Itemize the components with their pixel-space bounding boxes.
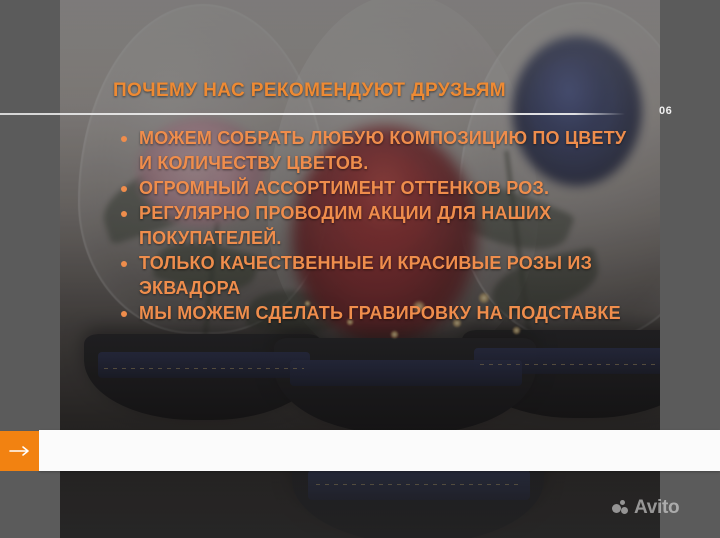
page-number: 06 (659, 105, 672, 117)
bottom-white-bar (39, 430, 720, 471)
title-divider (0, 113, 625, 115)
list-item: РЕГУЛЯРНО ПРОВОДИМ АКЦИИ ДЛЯ НАШИХ ПОКУП… (113, 201, 633, 251)
avito-watermark: Avito (612, 498, 679, 517)
list-item: ТОЛЬКО КАЧЕСТВЕННЫЕ И КРАСИВЫЕ РОЗЫ ИЗ Э… (113, 251, 633, 301)
avito-watermark-text: Avito (634, 498, 679, 517)
slide-title: ПОЧЕМУ НАС РЕКОМЕНДУЮТ ДРУЗЬЯМ (113, 80, 506, 102)
list-item: МЫ МОЖЕМ СДЕЛАТЬ ГРАВИРОВКУ НА ПОДСТАВКЕ (113, 301, 633, 326)
list-item: ОГРОМНЫЙ АССОРТИМЕНТ ОТТЕНКОВ РОЗ. (113, 176, 633, 201)
list-item: МОЖЕМ СОБРАТЬ ЛЮБУЮ КОМПОЗИЦИЮ ПО ЦВЕТУ … (113, 126, 633, 176)
next-slide-button[interactable] (0, 431, 39, 471)
slide-content: ПОЧЕМУ НАС РЕКОМЕНДУЮТ ДРУЗЬЯМ 06 МОЖЕМ … (0, 0, 720, 538)
benefits-list: МОЖЕМ СОБРАТЬ ЛЮБУЮ КОМПОЗИЦИЮ ПО ЦВЕТУ … (113, 126, 633, 326)
avito-dots-icon (612, 500, 630, 515)
arrow-right-icon (9, 445, 31, 457)
slide-canvas: ПОЧЕМУ НАС РЕКОМЕНДУЮТ ДРУЗЬЯМ 06 МОЖЕМ … (0, 0, 720, 538)
